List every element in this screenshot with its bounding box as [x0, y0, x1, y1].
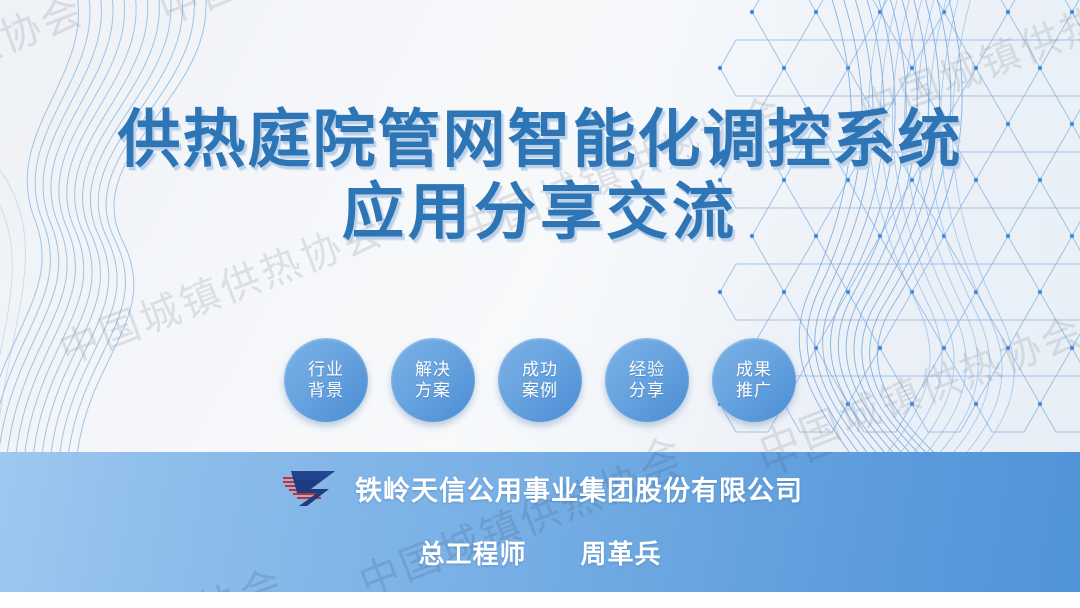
badge-label-line1: 解决 [415, 359, 451, 380]
badge-label-line1: 经验 [629, 359, 665, 380]
title-line-1: 供热庭院管网智能化调控系统 [0, 104, 1080, 176]
tianxin-z-logo-icon [277, 466, 339, 510]
agenda-badges: 行业 背景 解决 方案 成功 案例 经验 分享 成果 推广 [0, 338, 1080, 422]
presenter-row: 总工程师 周革兵 [0, 534, 1080, 571]
company-row: 铁岭天信公用事业集团股份有限公司 [0, 466, 1080, 510]
footer-band: 中国城镇供热协会 中国城镇供热协会 中国城镇供热协会 中国城镇供热协会 中国城镇… [0, 452, 1080, 592]
title-line-2: 应用分享交流 [0, 176, 1080, 248]
badge-label-line2: 分享 [629, 380, 665, 401]
badge-success-case[interactable]: 成功 案例 [498, 338, 582, 422]
presentation-slide: 中国城镇供热协会 中国城镇供热协会 中国城镇供热协会 中国城镇供热协会 中国城镇… [0, 0, 1080, 608]
badge-label-line2: 推广 [736, 380, 772, 401]
badge-result-promotion[interactable]: 成果 推广 [712, 338, 796, 422]
watermark-text: 中国城镇供热协会 [350, 419, 692, 452]
badge-label-line2: 背景 [308, 380, 344, 401]
badge-label-line2: 案例 [522, 380, 558, 401]
badge-label-line2: 方案 [415, 380, 451, 401]
badge-industry-background[interactable]: 行业 背景 [284, 338, 368, 422]
badge-label-line1: 成果 [736, 359, 772, 380]
slide-title-block: 供热庭院管网智能化调控系统 应用分享交流 [0, 104, 1080, 248]
badge-solution-plan[interactable]: 解决 方案 [391, 338, 475, 422]
badge-experience-sharing[interactable]: 经验 分享 [605, 338, 689, 422]
presenter-name-and-title: 总工程师 周革兵 [418, 534, 661, 571]
bottom-white-strip [0, 592, 1080, 608]
badge-label-line1: 行业 [308, 359, 344, 380]
badge-label-line1: 成功 [522, 359, 558, 380]
company-name: 铁岭天信公用事业集团股份有限公司 [355, 469, 803, 508]
